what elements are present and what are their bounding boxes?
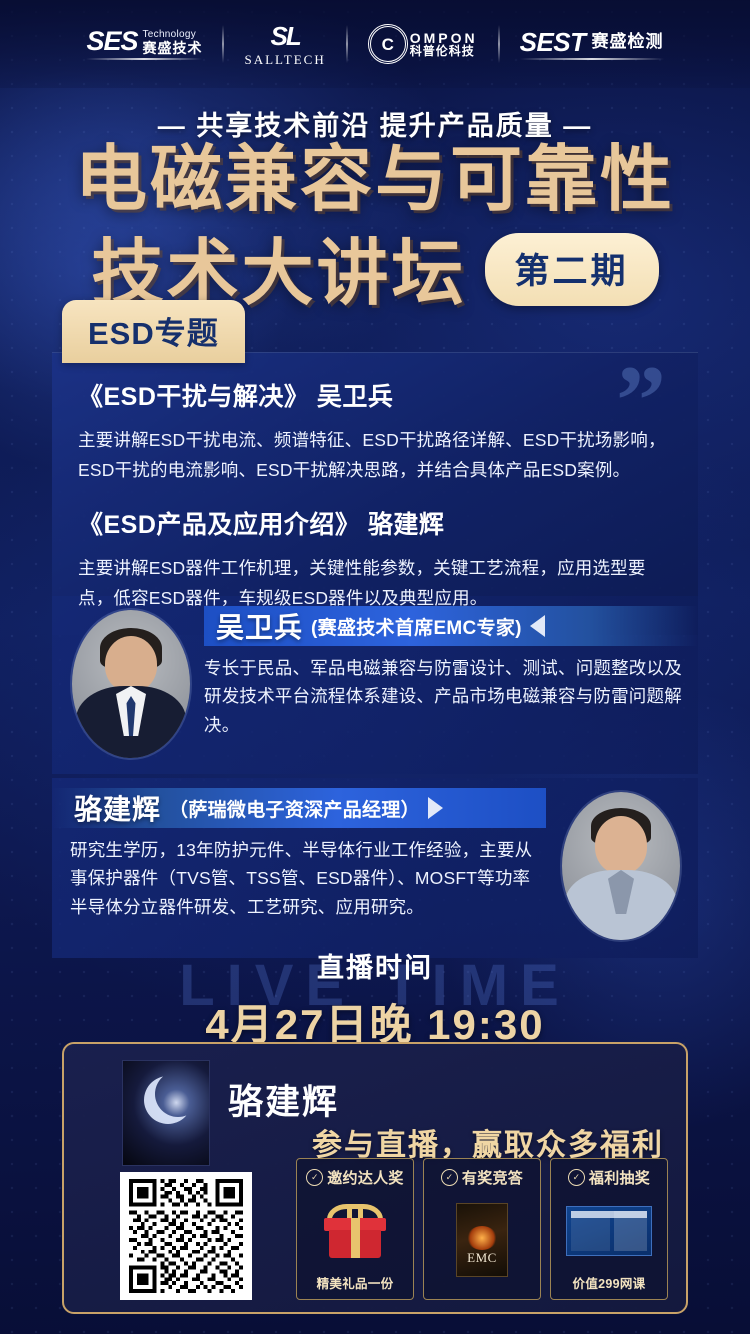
prize-artwork: EMC: [428, 1193, 536, 1287]
check-circle-icon: ✓: [568, 1169, 585, 1186]
live-time-label: 直播时间: [0, 946, 750, 985]
speaker-role: （萨瑞微电子资深产品经理）: [169, 795, 420, 822]
screenshot-icon: [566, 1206, 652, 1256]
moon-icon: [155, 1071, 201, 1117]
check-circle-icon: ✓: [306, 1169, 323, 1186]
logo-compon: C OMPON 科普伦科技: [348, 24, 498, 64]
account-name: 骆建辉: [228, 1074, 339, 1125]
salltech-glyph: SL: [270, 23, 299, 49]
gift-box-icon: [324, 1204, 386, 1258]
prize-name: 邀约达人奖: [327, 1167, 404, 1188]
prize-header: ✓ 邀约达人奖: [306, 1167, 404, 1188]
topics-card: ” 《ESD干扰与解决》 吴卫兵 主要讲解ESD干扰电流、频谱特征、ESD干扰路…: [52, 352, 698, 635]
prize-card-quiz: ✓ 有奖竞答 EMC: [423, 1158, 541, 1300]
ses-underline-swoosh: [86, 58, 202, 60]
section-tab-esd: ESD专题: [62, 300, 245, 363]
compon-chinese-name: 科普伦科技: [410, 45, 475, 57]
speaker-name: 骆建辉: [74, 788, 161, 828]
poster-root: SES Technology 赛盛技术 SL SALLTECH C OMPON …: [0, 0, 750, 1334]
triangle-pointer-icon: [428, 797, 443, 819]
prize-card-invite: ✓ 邀约达人奖 精美礼品一份: [296, 1158, 414, 1300]
check-circle-icon: ✓: [441, 1169, 458, 1186]
speaker-body: 吴卫兵 (赛盛技术首席EMC专家) 专长于民品、军品电磁兼容与防雷设计、测试、问…: [52, 596, 698, 774]
prize-header: ✓ 有奖竞答: [441, 1167, 523, 1188]
logo-sest: SEST 赛盛检测: [500, 29, 684, 60]
speaker-card-wu-weibing: 吴卫兵 (赛盛技术首席EMC专家) 专长于民品、军品电磁兼容与防雷设计、测试、问…: [52, 596, 698, 774]
triangle-pointer-icon: [530, 615, 545, 637]
gift-ribbon: [351, 1218, 360, 1258]
book-icon: EMC: [456, 1203, 508, 1277]
ses-chinese-name: 赛盛技术: [142, 41, 202, 55]
speaker-avatar: [562, 792, 680, 940]
prize-caption: 价值299网课: [573, 1273, 646, 1292]
ses-wordmark: SES: [86, 28, 137, 55]
page-title-line1: 电磁兼容与可靠性: [0, 142, 750, 220]
prize-name: 福利抽奖: [589, 1167, 650, 1188]
ses-tagline: Technology: [142, 30, 196, 40]
prize-artwork: [555, 1193, 663, 1268]
topic-description: 主要讲解ESD器件工作机理，关键性能参数，关键工艺流程，应用选型要点，低容ESD…: [78, 553, 672, 613]
avatar-head: [105, 636, 157, 692]
speaker-card-luo-jianhui: 骆建辉 （萨瑞微电子资深产品经理） 研究生学历，13年防护元件、半导体行业工作经…: [52, 778, 698, 958]
sest-underline-swoosh: [520, 58, 664, 60]
account-thumbnail: [122, 1060, 210, 1166]
book-title-label: EMC: [467, 1250, 497, 1266]
prize-card-lottery: ✓ 福利抽奖 价值299网课: [550, 1158, 668, 1300]
speaker-bio: 专长于民品、军品电磁兼容与防雷设计、测试、问题整改以及研发技术平台流程体系建设、…: [204, 654, 684, 739]
bottom-promo-panel: 骆建辉 参与直播，赢取众多福利: [62, 1042, 688, 1314]
prize-header: ✓ 福利抽奖: [568, 1167, 650, 1188]
topic-description: 主要讲解ESD干扰电流、频谱特征、ESD干扰路径详解、ESD干扰场影响，ESD干…: [78, 425, 672, 485]
book-cover-glow: [467, 1226, 497, 1250]
compon-ring-icon: C: [368, 24, 408, 64]
sest-chinese-name: 赛盛检测: [592, 33, 664, 50]
compon-wordmark: OMPON: [410, 31, 478, 45]
salltech-wordmark: SALLTECH: [244, 53, 325, 66]
logo-salltech: SL SALLTECH: [224, 23, 345, 66]
speaker-name-bar: 骆建辉 （萨瑞微电子资深产品经理）: [52, 788, 546, 828]
prize-list: ✓ 邀约达人奖 精美礼品一份 ✓ 有奖竞答: [296, 1158, 668, 1300]
prize-artwork: [301, 1193, 409, 1268]
poster-kicker: — 共享技术前沿 提升产品质量 —: [0, 104, 750, 143]
sponsor-logo-bar: SES Technology 赛盛技术 SL SALLTECH C OMPON …: [0, 0, 750, 88]
screenshot-titlebar: [571, 1211, 647, 1218]
topic-title: 《ESD产品及应用介绍》 骆建辉: [78, 505, 672, 541]
speaker-body: 骆建辉 （萨瑞微电子资深产品经理） 研究生学历，13年防护元件、半导体行业工作经…: [52, 778, 698, 958]
prize-name: 有奖竞答: [462, 1167, 523, 1188]
episode-badge: 第二期: [485, 233, 659, 306]
sest-wordmark: SEST: [520, 29, 586, 55]
qr-code[interactable]: [120, 1172, 252, 1300]
speaker-role: (赛盛技术首席EMC专家): [311, 613, 522, 640]
speaker-avatar: [72, 610, 190, 758]
avatar-head: [595, 816, 647, 874]
logo-ses-technology: SES Technology 赛盛技术: [66, 28, 222, 60]
topic-title: 《ESD干扰与解决》 吴卫兵: [78, 377, 672, 413]
prize-caption: 精美礼品一份: [317, 1273, 394, 1292]
live-time-block: LIVE TIME 直播时间 4月27日晚 19:30: [0, 946, 750, 1052]
speaker-bio: 研究生学历，13年防护元件、半导体行业工作经验，主要从事保护器件（TVS管、TS…: [70, 836, 538, 921]
